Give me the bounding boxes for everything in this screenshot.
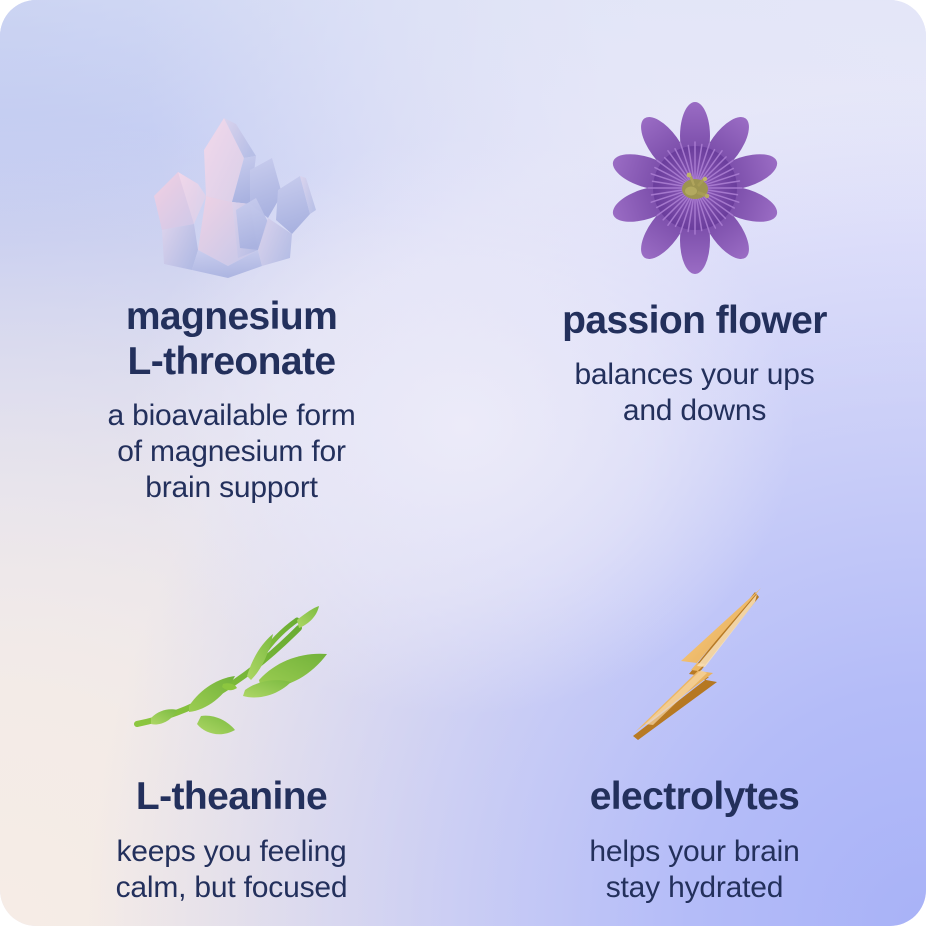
ingredient-text-passion-flower: passion flower balances your ups and dow…: [562, 298, 827, 429]
ingredient-description: a bioavailable form of magnesium for bra…: [107, 398, 355, 506]
ingredient-title: passion flower: [562, 298, 827, 343]
passion-flower-icon: [600, 88, 790, 278]
ingredient-card-electrolytes: electrolytes helps your brain stay hydra…: [463, 506, 926, 926]
lightning-bolt-icon: [605, 578, 785, 748]
ingredient-title: magnesium L-threonate: [107, 294, 355, 384]
ingredient-card-magnesium-l-threonate: magnesium L-threonate a bioavailable for…: [0, 0, 463, 506]
crystal-icon: [132, 88, 332, 278]
ingredients-grid: magnesium L-threonate a bioavailable for…: [0, 0, 926, 926]
ingredient-title: L-theanine: [116, 774, 348, 819]
ingredient-title: electrolytes: [589, 774, 799, 819]
ingredient-description: helps your brain stay hydrated: [589, 834, 799, 906]
ingredient-card-passion-flower: passion flower balances your ups and dow…: [463, 0, 926, 506]
tea-sprig-icon: [127, 578, 337, 748]
ingredient-description: keeps you feeling calm, but focused: [116, 834, 348, 906]
ingredient-description: balances your ups and downs: [562, 357, 827, 429]
ingredient-text-electrolytes: electrolytes helps your brain stay hydra…: [589, 774, 799, 905]
ingredients-card: magnesium L-threonate a bioavailable for…: [0, 0, 926, 926]
ingredient-card-l-theanine: L-theanine keeps you feeling calm, but f…: [0, 506, 463, 926]
ingredient-text-l-theanine: L-theanine keeps you feeling calm, but f…: [116, 774, 348, 905]
ingredient-text-magnesium-l-threonate: magnesium L-threonate a bioavailable for…: [107, 294, 355, 506]
